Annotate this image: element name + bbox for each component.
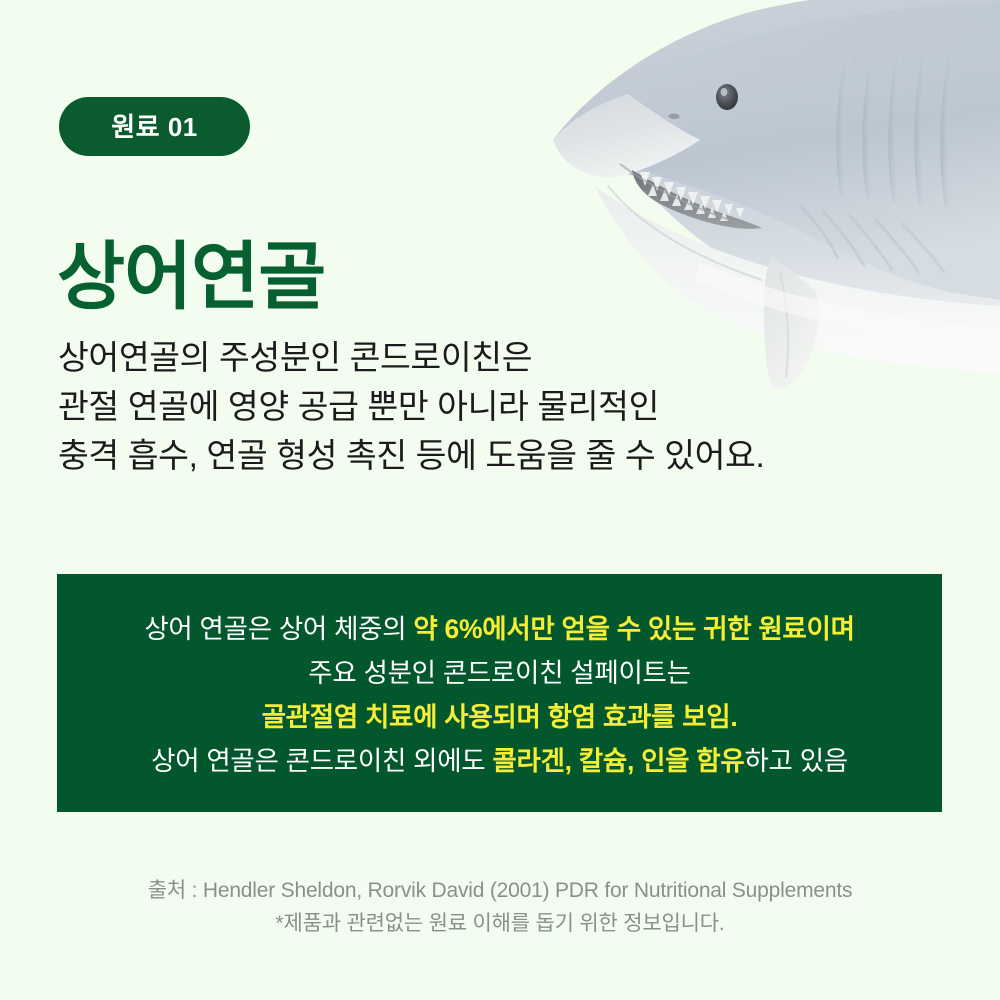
shark-eye-glint <box>721 88 728 96</box>
shark-mouth <box>632 170 762 229</box>
shark-jawline <box>620 164 748 226</box>
source-citation: 출처 : Hendler Sheldon, Rorvik David (2001… <box>0 874 1000 907</box>
callout-line-1-plain: 상어 연골은 상어 체중의 <box>144 614 413 644</box>
shark-flank <box>630 168 1000 360</box>
callout-line-4-plain-after: 하고 있음 <box>744 746 847 776</box>
badge-label: 원료 01 <box>111 114 197 140</box>
shark-eye <box>716 84 738 110</box>
description-line-1: 상어연골의 주성분인 콘드로이친은 <box>58 334 938 383</box>
shark-lower-jawline <box>608 186 762 280</box>
shark-dorsal-shading <box>620 2 1000 146</box>
description-line-2: 관절 연골에 영양 공급 뿐만 아니라 물리적인 <box>58 383 938 432</box>
callout-line-4: 상어 연골은 콘드로이친 외에도 콜라겐, 칼슘, 인을 함유하고 있음 <box>151 739 848 783</box>
callout-line-1: 상어 연골은 상어 체중의 약 6%에서만 얻을 수 있는 귀한 원료이며 <box>144 607 854 651</box>
shark-snout <box>553 94 700 178</box>
callout-line-4-highlight: 콜라겐, 칼슘, 인을 함유 <box>492 746 744 776</box>
description-line-3: 충격 흡수, 연골 형성 촉진 등에 도움을 줄 수 있어요. <box>58 432 938 481</box>
disclaimer-text: *제품과 관련없는 원료 이해를 돕기 위한 정보입니다. <box>0 907 1000 940</box>
page-title: 상어연골 <box>57 236 325 317</box>
ingredient-number-badge: 원료 01 <box>59 97 250 156</box>
callout-line-1-highlight: 약 6%에서만 얻을 수 있는 귀한 원료이며 <box>413 614 854 644</box>
highlight-callout-box: 상어 연골은 상어 체중의 약 6%에서만 얻을 수 있는 귀한 원료이며 주요… <box>57 574 942 812</box>
shark-teeth-lower <box>648 184 728 221</box>
shark-flank-streaks <box>800 206 944 272</box>
callout-line-3-highlight: 골관절염 치료에 사용되며 항염 효과를 보임. <box>262 702 738 732</box>
description-paragraph: 상어연골의 주성분인 콘드로이친은 관절 연골에 영양 공급 뿐만 아니라 물리… <box>58 334 938 481</box>
footnote: 출처 : Hendler Sheldon, Rorvik David (2001… <box>0 874 1000 940</box>
shark-teeth-upper <box>640 172 744 218</box>
infographic-card: 원료 01 상어연골 상어연골의 주성분인 콘드로이친은 관절 연골에 영양 공… <box>0 0 1000 1000</box>
shark-gill-slits <box>840 52 952 204</box>
shark-body <box>553 0 1000 300</box>
callout-line-3: 골관절염 치료에 사용되며 항염 효과를 보임. <box>262 695 738 739</box>
callout-line-2: 주요 성분인 콘드로이친 설페이트는 <box>308 651 690 695</box>
shark-nostril <box>668 113 680 119</box>
callout-line-4-plain-before: 상어 연골은 콘드로이친 외에도 <box>151 746 492 776</box>
